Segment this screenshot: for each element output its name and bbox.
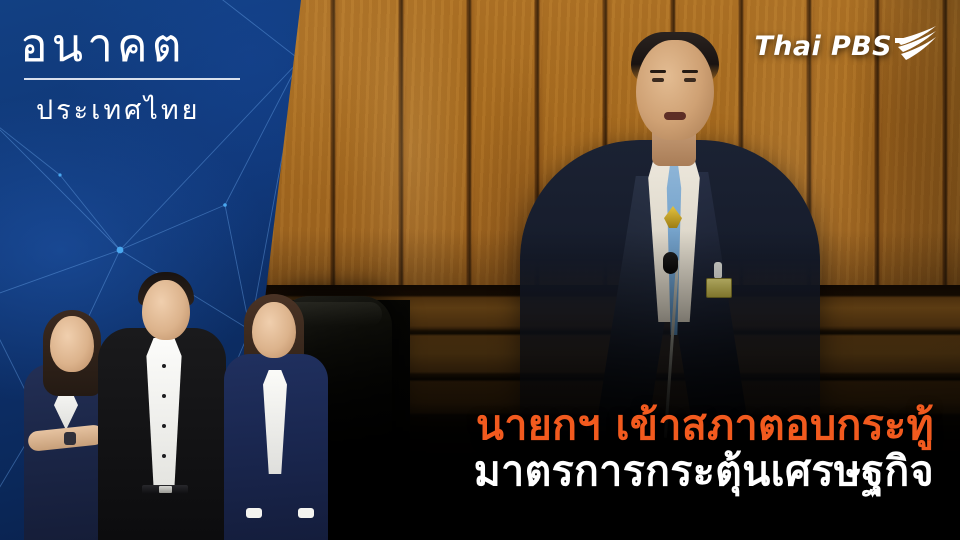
program-logo-line2: ประเทศไทย xyxy=(0,80,265,131)
presenter-center-belt xyxy=(142,485,188,494)
headline-line-1: นายกฯ เข้าสภาตอบกระทู้ xyxy=(314,402,934,449)
thaipbs-logo: Thai PBS xyxy=(754,26,938,66)
headline-line-2: มาตรการกระตุ้นเศรษฐกิจ xyxy=(314,448,934,496)
presenter-right-cuff-right xyxy=(298,508,314,518)
thaipbs-wordmark: Thai PBS xyxy=(754,31,892,62)
program-logo: อนาคต ประเทศไทย xyxy=(0,0,265,131)
presenter-right-head xyxy=(252,302,296,358)
shirt-button xyxy=(162,364,166,368)
program-logo-divider xyxy=(24,78,240,80)
shirt-button xyxy=(162,454,166,458)
presenter-center xyxy=(98,268,226,540)
presenter-center-head xyxy=(142,280,190,340)
shirt-button xyxy=(162,424,166,428)
headline-block: นายกฯ เข้าสภาตอบกระทู้ มาตรการกระตุ้นเศร… xyxy=(314,402,934,496)
program-logo-line1: อนาคต xyxy=(0,0,265,68)
presenter-group xyxy=(0,250,340,540)
broadcast-screen: อนาคต ประเทศไทย xyxy=(0,0,960,540)
shirt-button xyxy=(162,394,166,398)
presenter-left-head xyxy=(50,316,94,372)
presenter-left-watch xyxy=(64,432,76,445)
presenter-right-cuff-left xyxy=(246,508,262,518)
thaipbs-swoosh-icon xyxy=(894,26,938,66)
